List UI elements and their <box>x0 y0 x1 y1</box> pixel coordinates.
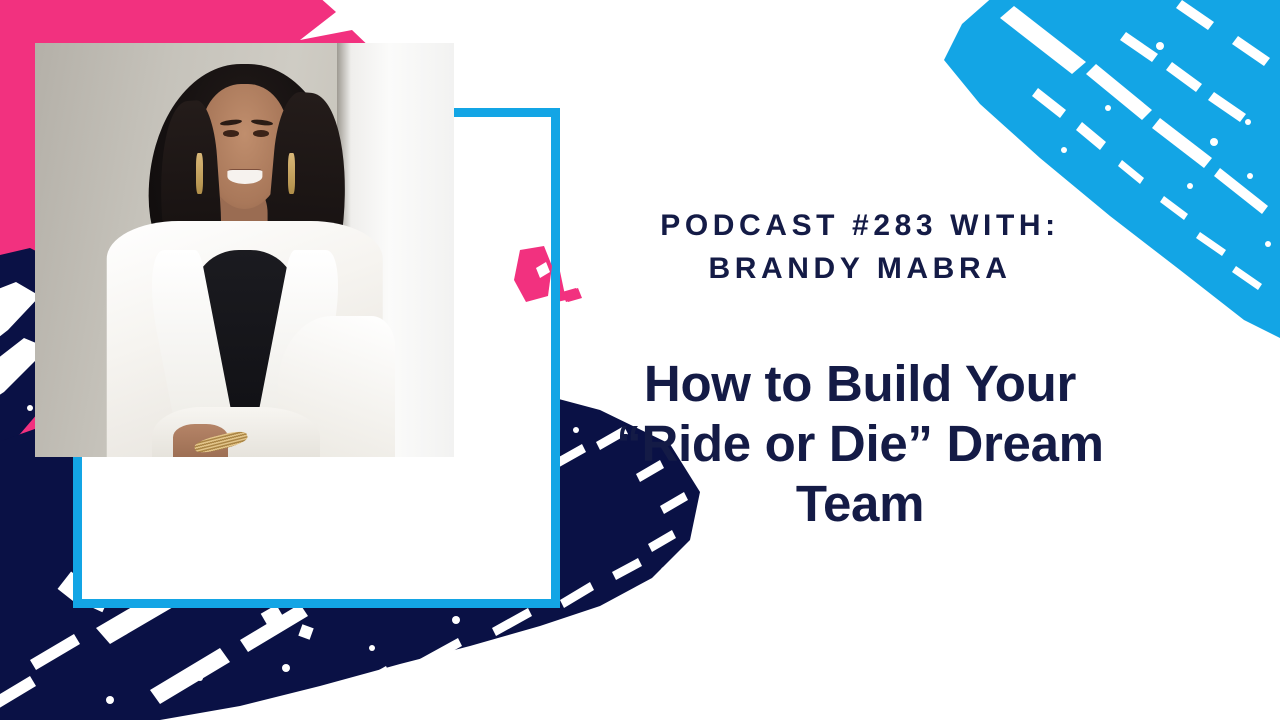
episode-title-line-1: How to Build Your <box>644 355 1076 412</box>
episode-title-line-2: “Ride or Die” Dream <box>616 415 1103 472</box>
photo-eye-left <box>223 130 239 137</box>
episode-title-line-3: Team <box>796 475 924 532</box>
guest-name-label: BRANDY MABRA <box>580 248 1140 291</box>
photo-earring-right <box>288 153 294 194</box>
text-column: PODCAST #283 WITH: BRANDY MABRA How to B… <box>580 0 1140 720</box>
episode-number-label: PODCAST #283 WITH: <box>580 205 1140 248</box>
photo-eye-right <box>253 130 269 137</box>
podcast-promo-graphic: PODCAST #283 WITH: BRANDY MABRA How to B… <box>0 0 1280 720</box>
guest-portrait-photo <box>35 43 454 457</box>
episode-heading: PODCAST #283 WITH: BRANDY MABRA <box>580 205 1140 290</box>
episode-title: How to Build Your “Ride or Die” Dream Te… <box>588 354 1133 533</box>
photo-earring-left <box>196 153 202 194</box>
